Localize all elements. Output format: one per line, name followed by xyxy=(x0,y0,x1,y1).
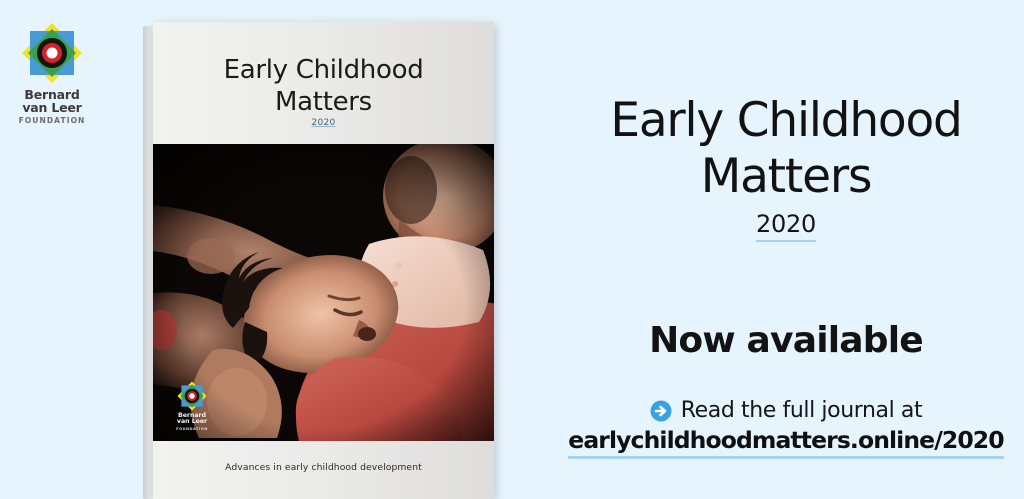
book-cover-brand-name-line2: van Leer xyxy=(169,419,215,426)
promo-title-line1: Early Childhood xyxy=(560,93,1012,149)
brand-name: Bernard van Leer xyxy=(10,88,94,114)
book-cover-photo: Bernard van Leer FOUNDATION xyxy=(153,144,494,441)
promo-title: Early Childhood Matters xyxy=(560,93,1012,205)
promo-year-value: 2020 xyxy=(756,210,816,242)
book-cover-title: Early Childhood Matters xyxy=(153,54,494,118)
book-cover-strapline: Advances in early childhood development xyxy=(153,462,494,473)
book-cover-title-line2: Matters xyxy=(153,86,494,118)
arrow-right-circle-icon xyxy=(650,400,672,422)
bernard-van-leer-logo-icon xyxy=(21,22,83,84)
promo-title-line2: Matters xyxy=(560,149,1012,205)
book-cover-year: 2020 xyxy=(153,118,494,128)
promo-url-text: earlychildhoodmatters.online/2020 xyxy=(568,426,1003,459)
promo-banner: Bernard van Leer FOUNDATION Early Childh… xyxy=(0,0,1024,499)
book-mockup: Early Childhood Matters 2020 xyxy=(143,22,494,499)
promo-panel: Early Childhood Matters 2020 Now availab… xyxy=(560,0,1012,499)
promo-year: 2020 xyxy=(560,210,1012,238)
brand-name-line2: van Leer xyxy=(10,101,94,114)
book-cover-brand-logo: Bernard van Leer FOUNDATION xyxy=(169,381,215,431)
brand-logo: Bernard van Leer FOUNDATION xyxy=(10,22,94,122)
promo-url-link[interactable]: earlychildhoodmatters.online/2020 xyxy=(560,426,1012,454)
promo-link-label: Read the full journal at xyxy=(681,398,923,423)
book-cover-brand-subtitle: FOUNDATION xyxy=(169,427,215,431)
brand-subtitle: FOUNDATION xyxy=(10,116,94,125)
promo-cta-heading: Now available xyxy=(560,320,1012,361)
book-cover: Early Childhood Matters 2020 xyxy=(153,22,494,499)
bernard-van-leer-logo-icon xyxy=(177,381,207,411)
book-cover-header: Early Childhood Matters 2020 xyxy=(153,22,494,144)
book-cover-brand-name: Bernard van Leer xyxy=(169,413,215,426)
promo-link-row[interactable]: Read the full journal at xyxy=(560,398,1012,423)
book-cover-title-line1: Early Childhood xyxy=(153,54,494,86)
